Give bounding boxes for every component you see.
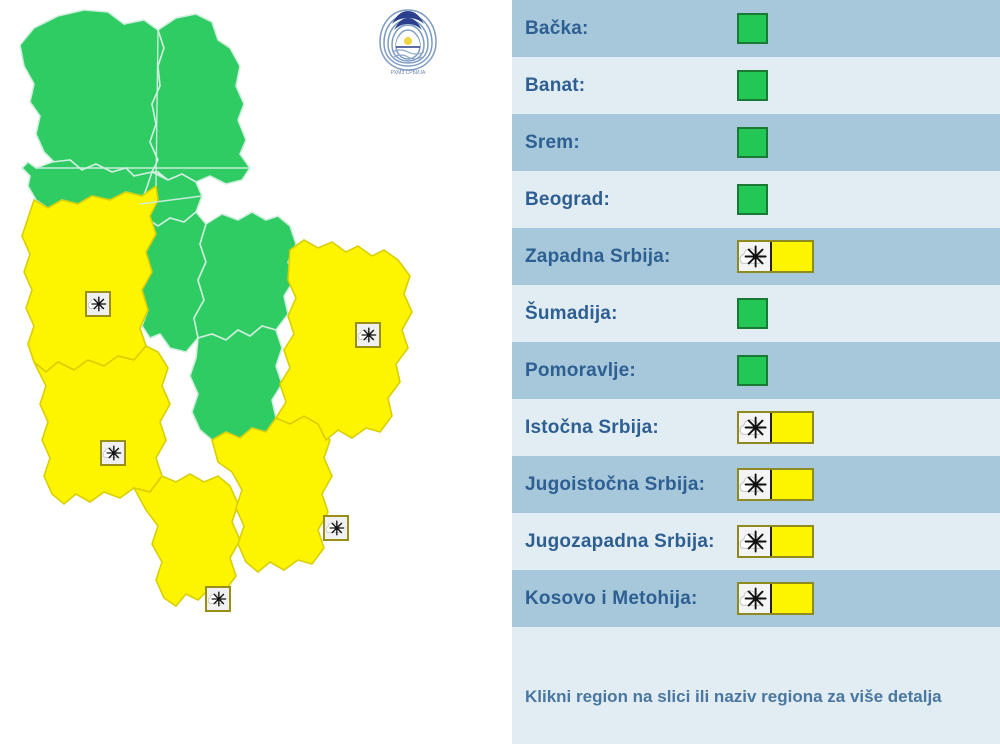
region-row-jugoistocna-srbija[interactable]: Jugoistočna Srbija: (512, 456, 1000, 513)
snow-icon-cell (739, 413, 772, 442)
warning-badge-slot (737, 468, 814, 502)
map-marker-jugoistocna-srbija[interactable] (323, 515, 349, 541)
snow-icon (102, 442, 124, 464)
warning-badge-slot (737, 582, 814, 616)
rhmz-logo-icon: РХМЗ СРБИЈА (376, 4, 440, 78)
map-marker-kosovo-metohija[interactable] (205, 586, 231, 612)
snow-icon (739, 527, 770, 556)
region-name-label: Banat: (525, 75, 737, 97)
map-region-banat[interactable] (150, 14, 250, 184)
warning-badge-snow-yellow (737, 240, 814, 273)
rhmz-logo: РХМЗ СРБИЈА (376, 4, 440, 78)
warning-badge-green (737, 127, 768, 158)
snow-icon (325, 517, 347, 539)
region-row-srem[interactable]: Srem: (512, 114, 1000, 171)
region-name-label: Srem: (525, 132, 737, 154)
logo-caption: РХМЗ СРБИЈА (391, 70, 426, 76)
map-region-zapadna-srbija[interactable] (22, 186, 158, 372)
region-row-banat[interactable]: Banat: (512, 57, 1000, 114)
warning-badge-slot (737, 297, 768, 331)
region-name-label: Šumadija: (525, 303, 737, 325)
warning-badge-slot (737, 126, 768, 160)
region-name-label: Pomoravlje: (525, 360, 737, 382)
region-row-zapadna-srbija[interactable]: Zapadna Srbija: (512, 228, 1000, 285)
warning-color-yellow (772, 242, 812, 271)
weather-warning-page: РХМЗ СРБИЈА (0, 0, 1000, 744)
warning-badge-slot (737, 240, 814, 274)
map-marker-zapadna-srbija[interactable] (85, 291, 111, 317)
warning-badge-slot (737, 69, 768, 103)
map-region-pomoravlje[interactable] (194, 212, 296, 340)
warning-badge-slot (737, 525, 814, 559)
warning-color-yellow (772, 470, 812, 499)
map-panel: РХМЗ СРБИЈА (0, 0, 512, 744)
region-row-istocna-srbija[interactable]: Istočna Srbija: (512, 399, 1000, 456)
map-region-jugozapadna-srbija[interactable] (34, 346, 170, 504)
warning-badge-green (737, 355, 768, 386)
map-region-istocna-srbija[interactable] (276, 240, 412, 440)
warning-color-yellow (772, 527, 812, 556)
map-region-green-tail[interactable] (190, 326, 282, 440)
warning-badge-slot (737, 183, 768, 217)
region-name-label: Bačka: (525, 18, 737, 40)
warning-badge-green (737, 13, 768, 44)
snow-icon (739, 242, 770, 271)
region-name-label: Zapadna Srbija: (525, 246, 737, 268)
warning-color-yellow (772, 584, 812, 613)
map-marker-istocna-srbija[interactable] (355, 322, 381, 348)
warning-badge-slot (737, 354, 768, 388)
map-marker-jugozapadna-srbija[interactable] (100, 440, 126, 466)
region-row-sumadija[interactable]: Šumadija: (512, 285, 1000, 342)
region-name-label: Jugoistočna Srbija: (525, 474, 737, 496)
region-name-label: Kosovo i Metohija: (525, 588, 737, 610)
warning-badge-green (737, 298, 768, 329)
serbia-warning-map[interactable] (0, 0, 512, 744)
snow-icon-cell (739, 527, 772, 556)
region-warning-list: Bačka: Banat: Srem: Beograd: Zapadna Srb (512, 0, 1000, 744)
region-row-beograd[interactable]: Beograd: (512, 171, 1000, 228)
map-region-backa[interactable] (20, 10, 164, 176)
snow-icon-cell (739, 242, 772, 271)
region-name-label: Istočna Srbija: (525, 417, 737, 439)
warning-badge-green (737, 184, 768, 215)
region-name-label: Beograd: (525, 189, 737, 211)
snow-icon (739, 413, 770, 442)
warning-badge-snow-yellow (737, 468, 814, 501)
region-name-label: Jugozapadna Srbija: (525, 531, 737, 553)
warning-badge-snow-yellow (737, 582, 814, 615)
map-regions (20, 10, 412, 606)
snow-icon (739, 584, 770, 613)
warning-badge-snow-yellow (737, 411, 814, 444)
warning-badge-snow-yellow (737, 525, 814, 558)
region-row-jugozapadna-srbija[interactable]: Jugozapadna Srbija: (512, 513, 1000, 570)
snow-icon (87, 293, 109, 315)
footer-hint: Klikni region na slici ili naziv regiona… (512, 627, 1000, 744)
snow-icon (207, 588, 229, 610)
region-row-kosovo-metohija[interactable]: Kosovo i Metohija: (512, 570, 1000, 627)
snow-icon (357, 324, 379, 346)
snow-icon (739, 470, 770, 499)
snow-icon-cell (739, 470, 772, 499)
warning-badge-slot (737, 411, 814, 445)
warning-badge-slot (737, 12, 768, 46)
region-row-backa[interactable]: Bačka: (512, 0, 1000, 57)
region-row-pomoravlje[interactable]: Pomoravlje: (512, 342, 1000, 399)
warning-badge-green (737, 70, 768, 101)
warning-color-yellow (772, 413, 812, 442)
snow-icon-cell (739, 584, 772, 613)
